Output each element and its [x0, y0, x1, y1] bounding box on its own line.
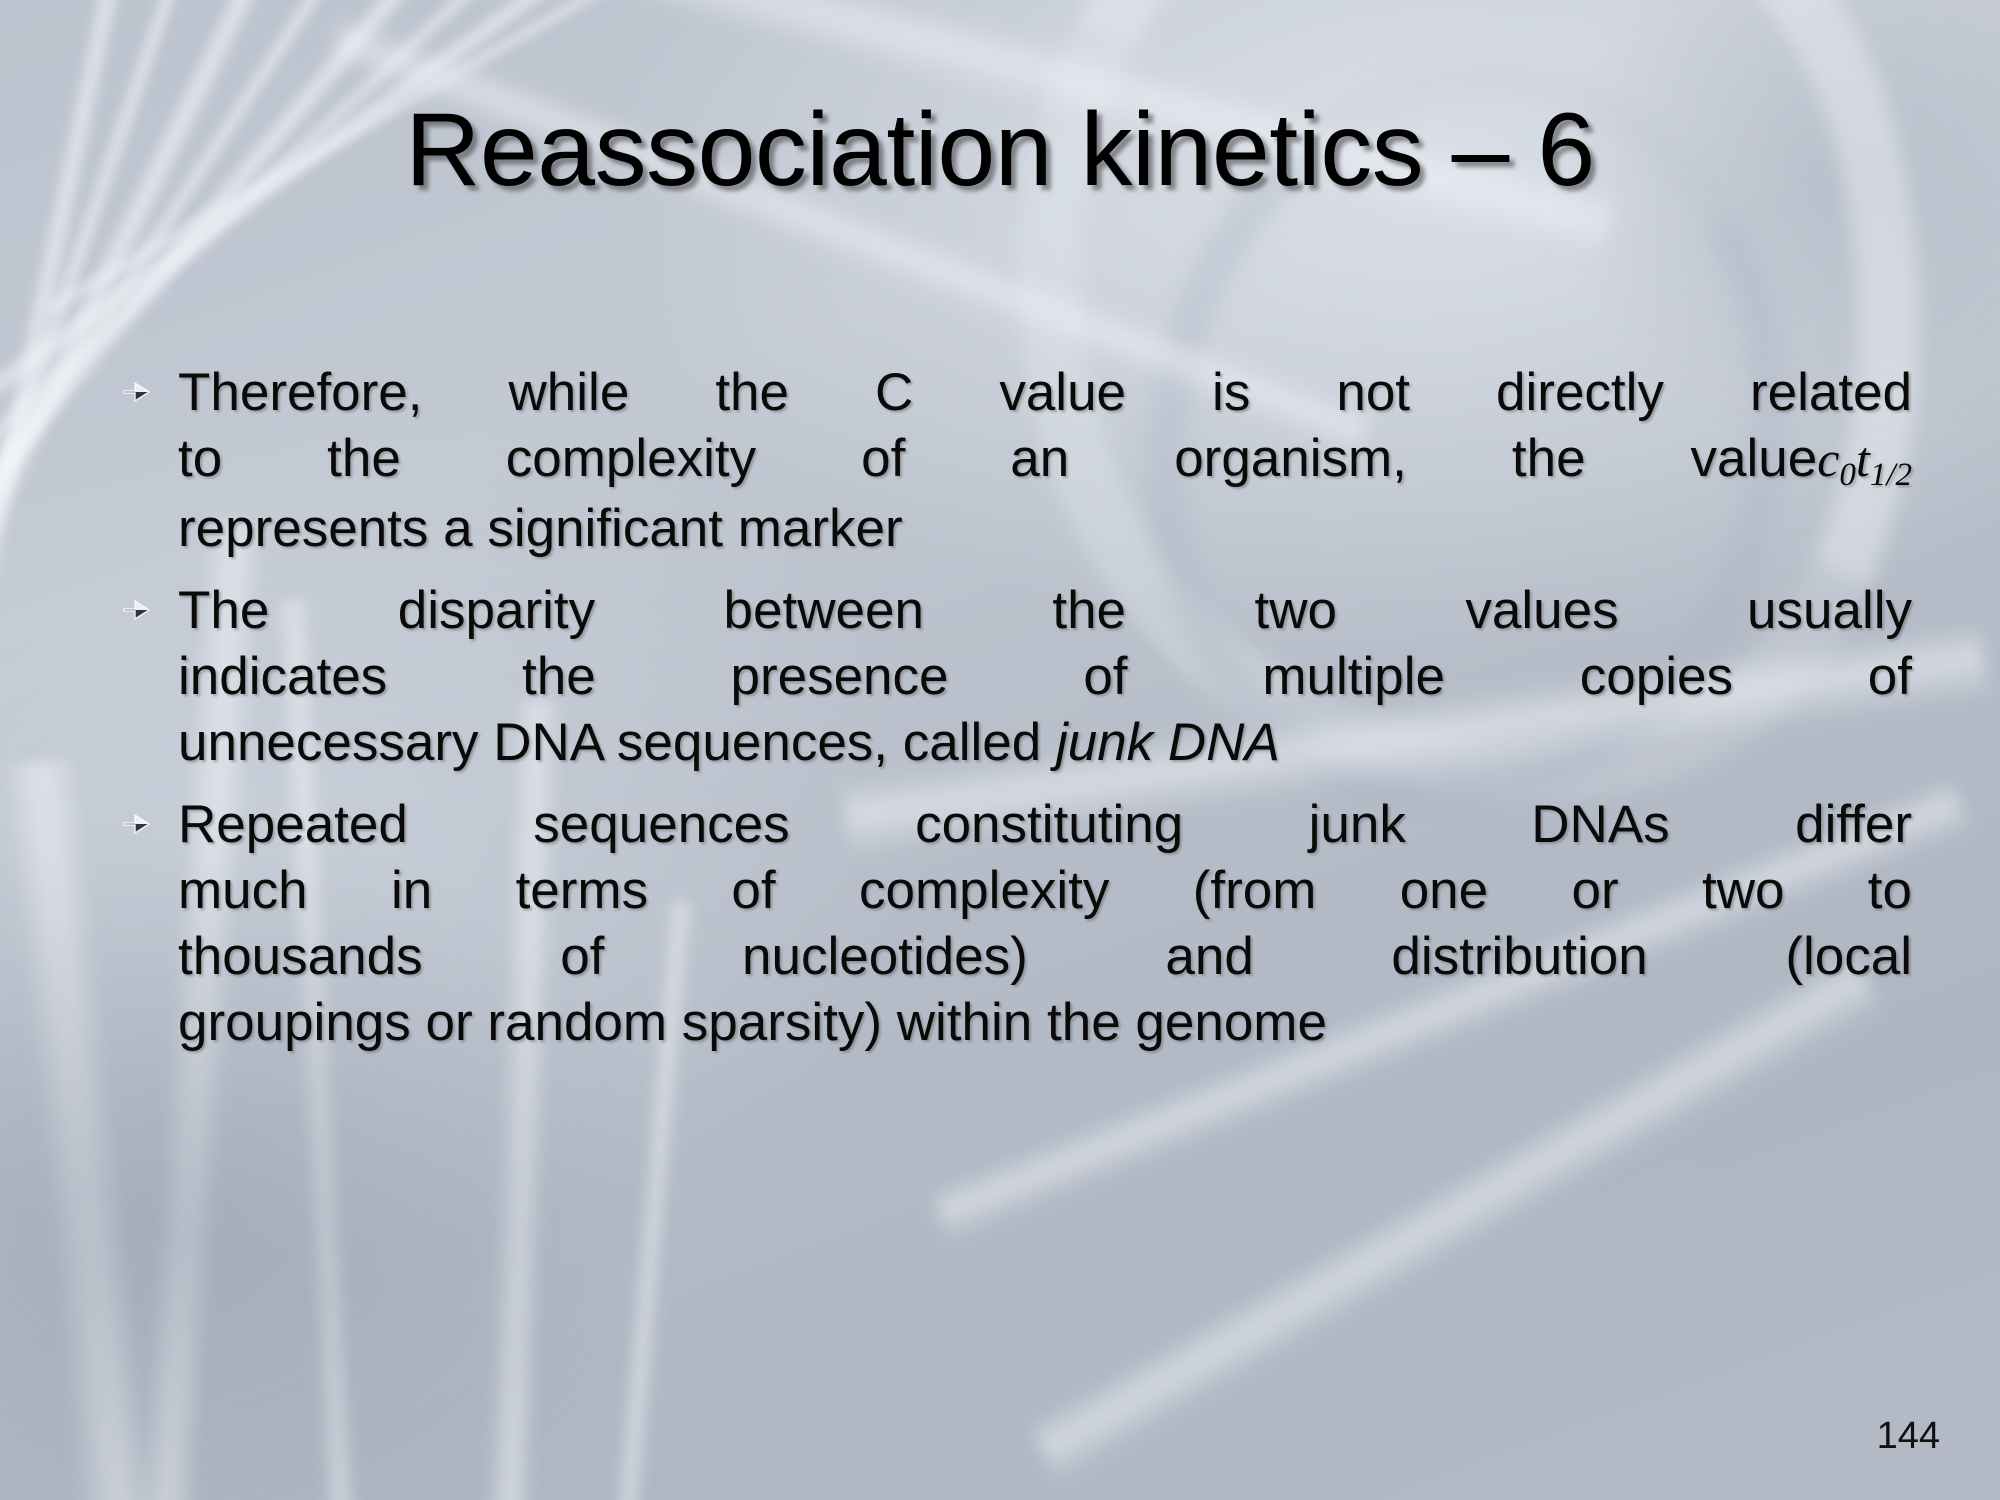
bullet-line: Therefore, while the C value is not dire…: [178, 360, 1912, 426]
bullet-line: indicates the presence of multiple copie…: [178, 644, 1912, 710]
formula-sub-half: 1/2: [1870, 457, 1912, 493]
bullet-line: thousands of nucleotides) and distributi…: [178, 924, 1912, 990]
bullet-line-text: unnecessary DNA sequences, called: [178, 713, 1041, 772]
bullet-text-1: Therefore, while the C value is not dire…: [178, 360, 1912, 562]
arrow-bullet-icon: [122, 360, 178, 408]
bullet-line-text: to the complexity of an organism, the va…: [178, 429, 1817, 488]
slide-body: Therefore, while the C value is not dire…: [122, 360, 1912, 1072]
bullet-line-with-math: to the complexity of an organism, the va…: [178, 426, 1912, 496]
bullet-item-2: The disparity between the two values usu…: [122, 578, 1912, 776]
bullet-text-3: Repeated sequences constituting junk DNA…: [178, 792, 1912, 1056]
bullet-line: Repeated sequences constituting junk DNA…: [178, 792, 1912, 858]
formula-base-c: c: [1817, 431, 1839, 487]
formula-sub-0: 0: [1839, 457, 1856, 493]
bullet-line: much in terms of complexity (from one or…: [178, 858, 1912, 924]
junk-dna-emphasis: junk DNA: [1056, 713, 1280, 772]
arrow-bullet-icon: [122, 792, 178, 840]
bullet-item-1: Therefore, while the C value is not dire…: [122, 360, 1912, 562]
bullet-line: The disparity between the two values usu…: [178, 578, 1912, 644]
bullet-text-2: The disparity between the two values usu…: [178, 578, 1912, 776]
arrow-bullet-icon: [122, 578, 178, 626]
slide-title: Reassociation kinetics – 6: [0, 96, 2000, 205]
presentation-slide: Reassociation kinetics – 6 Therefore, wh…: [0, 0, 2000, 1500]
c0t-half-formula: c0t1/2: [1817, 431, 1912, 487]
bullet-line: represents a significant marker: [178, 496, 1912, 562]
formula-base-t: t: [1856, 431, 1870, 487]
bullet-line: groupings or random sparsity) within the…: [178, 990, 1912, 1056]
page-number: 144: [1877, 1415, 1940, 1458]
bullet-item-3: Repeated sequences constituting junk DNA…: [122, 792, 1912, 1056]
bullet-line-with-emphasis: unnecessary DNA sequences, called junk D…: [178, 710, 1912, 776]
